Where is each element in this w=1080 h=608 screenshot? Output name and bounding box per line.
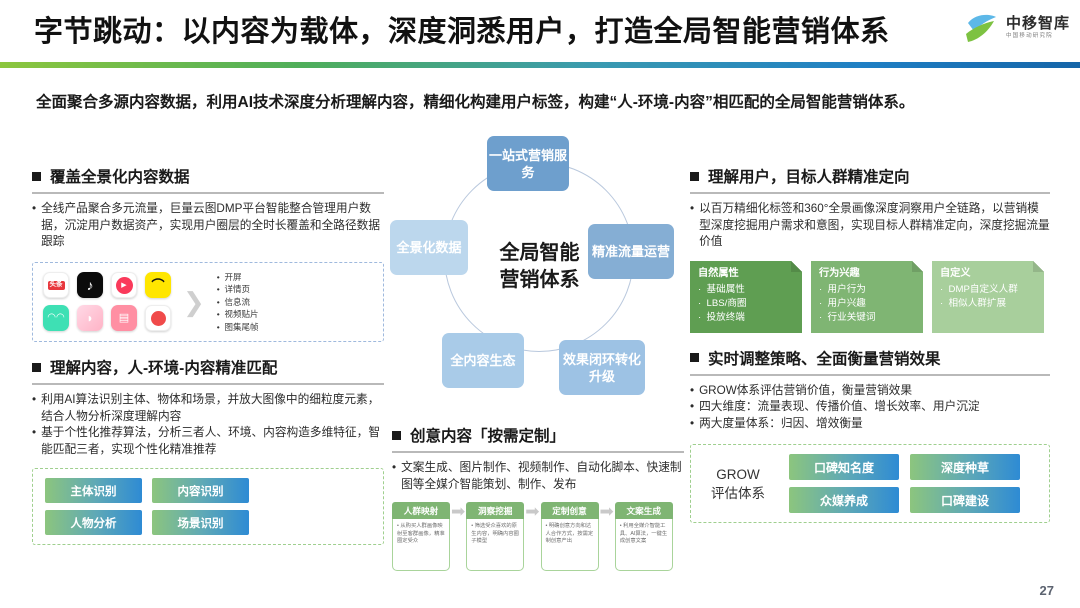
flow-step[interactable]: 人群映射 • 从购买人群画像映射至客群画像，精准圈定受众	[392, 502, 450, 571]
grow-framework-box: GROW 评估体系 口碑知名度 深度种草 众媒养成 口碑建设	[690, 444, 1050, 523]
section-user-understanding-title: 理解用户，目标人群精准定向	[708, 165, 910, 187]
card-fold-icon	[912, 261, 923, 272]
flow-step-text: 从购买人群画像映射至客群画像，精准圈定受众	[397, 523, 445, 544]
section-rule	[690, 192, 1050, 194]
section-creative-content-title: 创意内容「按需定制」	[410, 424, 565, 446]
section-user-understanding: 理解用户，目标人群精准定向 • 以百万精细化标签和360°全景画像深度洞察用户全…	[690, 165, 1050, 333]
grow-label: GROW 评估体系	[701, 465, 775, 503]
diagram-node-one-stop[interactable]: 一站式营销服务	[487, 136, 569, 191]
bullet-text: 两大度量体系：归因、增效衡量	[699, 416, 863, 433]
section-creative-content-bullets: • 文案生成、图片制作、视频制作、自动化脚本、快速制图等全媒介智能策划、制作、发…	[392, 460, 684, 493]
bullet-item: • 利用AI算法识别主体、物体和场景，并放大图像中的细粒度元素，结合人物分析深度…	[32, 392, 384, 425]
section-realtime-strategy: 实时调整策略、全面衡量营销效果 • GROW体系评估营销价值，衡量营销效果 • …	[690, 347, 1050, 524]
list-item-label: 详情页	[225, 284, 251, 294]
diagram-node-label: 全景化数据	[396, 239, 461, 256]
flow-dot-icon: •	[397, 523, 399, 529]
diagram-node-label: 全内容生态	[450, 352, 515, 369]
flow-step-text: 利用全媒介智能工具、AI算法，一键生成创意文案	[620, 523, 667, 544]
flow-dot-icon: •	[546, 523, 548, 529]
section-creative-content: 创意内容「按需定制」 • 文案生成、图片制作、视频制作、自动化脚本、快速制图等全…	[392, 424, 684, 571]
list-dot-icon: •	[217, 297, 220, 307]
slide-subtitle: 全面聚合多源内容数据，利用AI技术深度分析理解内容，精细化构建用户标签，构建“人…	[36, 88, 1046, 118]
left-column: 覆盖全景化内容数据 • 全线产品聚合多元流量，巨量云图DMP平台智能整合管理用户…	[32, 165, 384, 545]
section-content-understanding-header: 理解内容，人-环境-内容精准匹配	[32, 356, 384, 378]
user-tag-cards: 自然属性 · 基础属性 · LBS/商圈 · 投放终端 行为兴趣 · 用户行为 …	[690, 261, 1050, 333]
section-creative-content-header: 创意内容「按需定制」	[392, 424, 684, 446]
app-icon-xingfuli[interactable]	[145, 305, 171, 331]
logo-subtitle: 中国移动研究院	[1006, 34, 1053, 40]
list-item-label: 信息流	[225, 297, 251, 307]
bullet-item: • 四大维度：流量表现、传播价值、增长效率、用户沉淀	[690, 399, 1050, 416]
section-user-understanding-bullets: • 以百万精细化标签和360°全景画像深度洞察用户全链路，以营销模型深度挖掘用户…	[690, 201, 1050, 251]
recognition-tags-box: 主体识别 内容识别 人物分析 场景识别	[32, 468, 384, 545]
section-content-understanding: 理解内容，人-环境-内容精准匹配 • 利用AI算法识别主体、物体和场景，并放大图…	[32, 356, 384, 545]
bullet-dot-icon: •	[690, 201, 694, 251]
list-item-label: 视频贴片	[225, 309, 259, 319]
page-title: 字节跳动：以内容为载体，深度洞悉用户，打造全局智能营销体系	[34, 8, 890, 50]
bullet-dot-icon: •	[690, 383, 694, 400]
tag-card-item: · 基础属性	[698, 283, 796, 297]
app-icon-qingyan[interactable]: ◗	[77, 305, 103, 331]
tag-card-item: · 用户行为	[819, 283, 917, 297]
slide-header: 字节跳动：以内容为载体，深度洞悉用户，打造全局智能营销体系 中移智库 中国移动研…	[0, 0, 1080, 58]
list-dot-icon: •	[217, 284, 220, 294]
section-rule	[392, 451, 684, 453]
flow-step-title: 文案生成	[615, 502, 673, 519]
bullet-text: 全线产品聚合多元流量，巨量云图DMP平台智能整合管理用户数据，沉淀用户数据资产，…	[41, 201, 384, 251]
creative-flow-diagram: 人群映射 • 从购买人群画像映射至客群画像，精准圈定受众 ➡ 洞察挖掘 • 筛选…	[392, 502, 684, 571]
grow-tag-chip[interactable]: 口碑建设	[910, 487, 1020, 513]
flow-step-text: 明确创意方向和达人合作方式，按需定制创意产出	[546, 523, 594, 544]
flow-step-body: • 从购买人群画像映射至客群画像，精准圈定受众	[392, 519, 450, 571]
tag-card-item: · 行业关键词	[819, 311, 917, 325]
flow-step-body: • 明确创意方向和达人合作方式，按需定制创意产出	[541, 519, 599, 571]
card-fold-icon	[1033, 261, 1044, 272]
section-coverage: 覆盖全景化内容数据 • 全线产品聚合多元流量，巨量云图DMP平台智能整合管理用户…	[32, 165, 384, 342]
tag-chip[interactable]: 主体识别	[45, 478, 142, 503]
recognition-tag-grid: 主体识别 内容识别 人物分析 场景识别	[45, 478, 371, 535]
header-gradient-divider	[0, 62, 1080, 68]
flow-step-body: • 利用全媒介智能工具、AI算法，一键生成创意文案	[615, 519, 673, 571]
flow-dot-icon: •	[471, 523, 473, 529]
bullet-square-icon	[32, 172, 41, 181]
tag-chip[interactable]: 场景识别	[152, 510, 249, 535]
flow-step-text: 筛选受众喜欢的原生内容，明确内容圈子模型	[471, 523, 519, 544]
section-rule	[690, 374, 1050, 376]
grow-tag-chip[interactable]: 深度种草	[910, 454, 1020, 480]
section-realtime-strategy-header: 实时调整策略、全面衡量营销效果	[690, 347, 1050, 369]
flow-step-title: 定制创意	[541, 502, 599, 519]
diagram-node-label: 效果闭环转化升级	[559, 351, 645, 385]
flow-step-body: • 筛选受众喜欢的原生内容，明确内容圈子模型	[466, 519, 524, 571]
tag-card-natural[interactable]: 自然属性 · 基础属性 · LBS/商圈 · 投放终端	[690, 261, 802, 333]
section-rule	[32, 383, 384, 385]
diagram-node-panoramic-data[interactable]: 全景化数据	[390, 220, 468, 275]
arrow-right-icon: ❯	[183, 289, 205, 315]
grow-tag-grid: 口碑知名度 深度种草 众媒养成 口碑建设	[789, 454, 1020, 513]
bullet-text: 利用AI算法识别主体、物体和场景，并放大图像中的细粒度元素，结合人物分析深度理解…	[41, 392, 384, 425]
diagram-core-line2: 营销体系	[500, 267, 580, 294]
bullet-square-icon	[690, 172, 699, 181]
tag-card-title: 自然属性	[698, 267, 796, 281]
diagram-node-closed-loop[interactable]: 效果闭环转化升级	[559, 340, 645, 395]
tag-card-item: · LBS/商圈	[698, 297, 796, 311]
ad-format-list: • 开屏 • 详情页 • 信息流 • 视频贴片 • 图集尾帧	[217, 271, 259, 334]
list-item: • 信息流	[217, 296, 259, 309]
card-fold-icon	[791, 261, 802, 272]
section-coverage-header: 覆盖全景化内容数据	[32, 165, 384, 187]
center-column: 一站式营销服务 精准流量运营 效果闭环转化升级 全内容生态 全景化数据 全局智能…	[392, 140, 684, 415]
list-item: • 开屏	[217, 271, 259, 284]
tag-card-item: · 相似人群扩展	[940, 297, 1038, 311]
section-realtime-strategy-bullets: • GROW体系评估营销价值，衡量营销效果 • 四大维度：流量表现、传播价值、增…	[690, 383, 1050, 433]
bullet-text: 文案生成、图片制作、视频制作、自动化脚本、快速制图等全媒介智能策划、制作、发布	[401, 460, 684, 493]
grow-label-line2: 评估体系	[701, 484, 775, 503]
app-portfolio-box: 头条 ♪ ▶ ⌒ ◠◠ ◗	[32, 262, 384, 343]
section-content-understanding-bullets: • 利用AI算法识别主体、物体和场景，并放大图像中的细粒度元素，结合人物分析深度…	[32, 392, 384, 458]
flow-step-title: 人群映射	[392, 502, 450, 519]
app-icon-pipixia[interactable]: ◠◠	[43, 305, 69, 331]
tag-card-item: · DMP自定义人群	[940, 283, 1038, 297]
brand-logo: 中移智库 中国移动研究院	[960, 8, 1070, 48]
bullet-dot-icon: •	[690, 399, 694, 416]
flow-arrow-icon: ➡	[525, 502, 539, 520]
marketing-system-diagram: 一站式营销服务 精准流量运营 效果闭环转化升级 全内容生态 全景化数据 全局智能…	[392, 140, 684, 415]
bullet-dot-icon: •	[32, 425, 36, 458]
bullet-item: • 以百万精细化标签和360°全景画像深度洞察用户全链路，以营销模型深度挖掘用户…	[690, 201, 1050, 251]
bullet-text: 基于个性化推荐算法，分析三者人、环境、内容构造多维特征，智能匹配三者，实现个性化…	[41, 425, 384, 458]
diagram-core-line1: 全局智能	[500, 240, 580, 267]
flow-dot-icon: •	[620, 523, 622, 529]
bullet-item: • 全线产品聚合多元流量，巨量云图DMP平台智能整合管理用户数据，沉淀用户数据资…	[32, 201, 384, 251]
bullet-item: • 文案生成、图片制作、视频制作、自动化脚本、快速制图等全媒介智能策划、制作、发…	[392, 460, 684, 493]
flow-step[interactable]: 定制创意 • 明确创意方向和达人合作方式，按需定制创意产出	[541, 502, 599, 571]
bullet-dot-icon: •	[32, 201, 36, 251]
tag-card-custom[interactable]: 自定义 · DMP自定义人群 · 相似人群扩展	[932, 261, 1044, 333]
slide-root: 字节跳动：以内容为载体，深度洞悉用户，打造全局智能营销体系 中移智库 中国移动研…	[0, 0, 1080, 608]
list-dot-icon: •	[217, 309, 220, 319]
flow-step-title: 洞察挖掘	[466, 502, 524, 519]
section-coverage-title: 覆盖全景化内容数据	[50, 165, 190, 187]
bullet-dot-icon: •	[392, 460, 396, 493]
section-content-understanding-title: 理解内容，人-环境-内容精准匹配	[50, 356, 277, 378]
tag-chip[interactable]: 内容识别	[152, 478, 249, 503]
app-icon-douyin[interactable]: ♪	[77, 272, 103, 298]
bullet-dot-icon: •	[690, 416, 694, 433]
app-icon-dongchedi[interactable]: ⌒	[145, 272, 171, 298]
flow-step[interactable]: 洞察挖掘 • 筛选受众喜欢的原生内容，明确内容圈子模型	[466, 502, 524, 571]
app-icon-fanqie[interactable]: ▤	[111, 305, 137, 331]
list-item: • 详情页	[217, 283, 259, 296]
list-item-label: 图集尾帧	[225, 322, 259, 332]
tag-card-item: · 投放终端	[698, 311, 796, 325]
logo-leaf-icon	[960, 8, 1000, 48]
grow-label-line1: GROW	[701, 465, 775, 484]
flow-arrow-icon: ➡	[451, 502, 465, 520]
bullet-text: 以百万精细化标签和360°全景画像深度洞察用户全链路，以营销模型深度挖掘用户需求…	[699, 201, 1050, 251]
bullet-item: • 基于个性化推荐算法，分析三者人、环境、内容构造多维特征，智能匹配三者，实现个…	[32, 425, 384, 458]
logo-text: 中移智库 中国移动研究院	[1006, 16, 1070, 40]
grow-tag-chip[interactable]: 众媒养成	[789, 487, 899, 513]
app-icon-toutiao[interactable]: 头条	[43, 272, 69, 298]
bullet-text: 四大维度：流量表现、传播价值、增长效率、用户沉淀	[699, 399, 980, 416]
section-rule	[32, 192, 384, 194]
section-coverage-bullets: • 全线产品聚合多元流量，巨量云图DMP平台智能整合管理用户数据，沉淀用户数据资…	[32, 201, 384, 251]
bullet-square-icon	[392, 431, 401, 440]
bullet-dot-icon: •	[32, 392, 36, 425]
page-number: 27	[1040, 583, 1054, 598]
bullet-square-icon	[32, 363, 41, 372]
app-icon-xigua[interactable]: ▶	[111, 272, 137, 298]
bullet-square-icon	[690, 353, 699, 362]
diagram-node-content-ecology[interactable]: 全内容生态	[442, 333, 524, 388]
app-icon-grid: 头条 ♪ ▶ ⌒ ◠◠ ◗	[43, 272, 171, 331]
flow-step[interactable]: 文案生成 • 利用全媒介智能工具、AI算法，一键生成创意文案	[615, 502, 673, 571]
section-user-understanding-header: 理解用户，目标人群精准定向	[690, 165, 1050, 187]
bullet-item: • 两大度量体系：归因、增效衡量	[690, 416, 1050, 433]
diagram-node-label: 一站式营销服务	[487, 147, 569, 181]
list-item: • 视频贴片	[217, 308, 259, 321]
tag-card-behavior[interactable]: 行为兴趣 · 用户行为 · 用户兴趣 · 行业关键词	[811, 261, 923, 333]
flow-arrow-icon: ➡	[600, 502, 614, 520]
tag-card-item: · 用户兴趣	[819, 297, 917, 311]
section-realtime-strategy-title: 实时调整策略、全面衡量营销效果	[708, 347, 941, 369]
logo-name: 中移智库	[1006, 16, 1070, 31]
tag-card-title: 行为兴趣	[819, 267, 917, 281]
list-item: • 图集尾帧	[217, 321, 259, 334]
tag-card-title: 自定义	[940, 267, 1038, 281]
tag-chip[interactable]: 人物分析	[45, 510, 142, 535]
right-column: 理解用户，目标人群精准定向 • 以百万精细化标签和360°全景画像深度洞察用户全…	[690, 165, 1050, 523]
list-dot-icon: •	[217, 272, 220, 282]
bullet-item: • GROW体系评估营销价值，衡量营销效果	[690, 383, 1050, 400]
grow-tag-chip[interactable]: 口碑知名度	[789, 454, 899, 480]
bullet-text: GROW体系评估营销价值，衡量营销效果	[699, 383, 912, 400]
list-item-label: 开屏	[225, 272, 242, 282]
diagram-core-label: 全局智能 营销体系	[462, 232, 617, 302]
list-dot-icon: •	[217, 322, 220, 332]
